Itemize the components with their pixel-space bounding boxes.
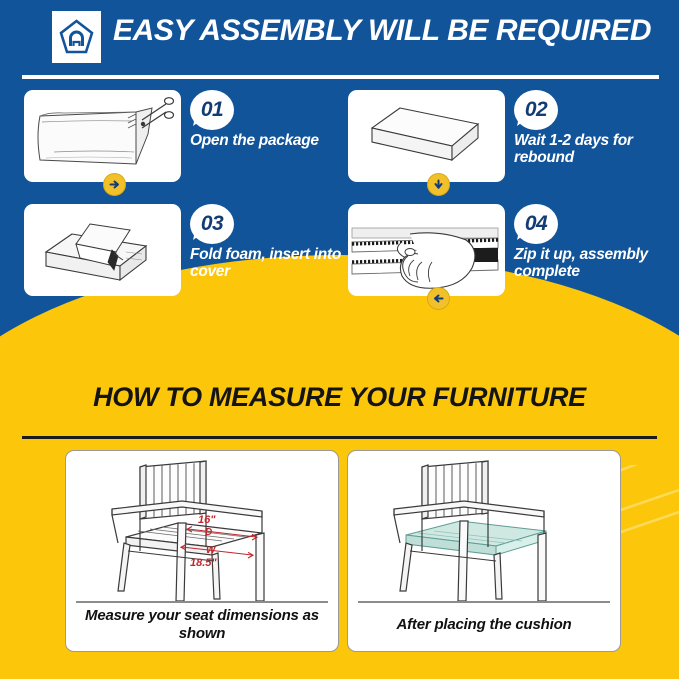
step-number: 02 — [525, 98, 547, 122]
dimension-depth-symbol: D — [205, 527, 212, 538]
dimension-depth-value: 16" — [198, 514, 216, 526]
step-arrow-down-icon — [427, 173, 450, 196]
step-item: 03 Fold foam, insert into cover — [14, 202, 344, 306]
measure-card-caption: Measure your seat dimensions as shown — [74, 607, 330, 642]
step-label: Open the package — [190, 132, 346, 149]
step-item: 01 Open the package — [14, 88, 344, 192]
measure-divider — [22, 436, 657, 439]
step-item: 04 Zip it up, assembly complete — [338, 202, 668, 306]
measure-card: After placing the cushion — [347, 450, 621, 652]
step-number-badge: 02 — [514, 90, 558, 130]
card-divider — [358, 601, 610, 603]
house-pentagon-logo-icon — [58, 18, 95, 57]
measure-card: 16" D W 18.5" Measure your seat dimensio… — [65, 450, 339, 652]
step-number-badge: 04 — [514, 204, 558, 244]
flat-foam-slab-icon — [348, 90, 505, 182]
step-number: 04 — [525, 212, 547, 236]
hand-zipping-cushion-cover-icon — [348, 204, 505, 296]
step-arrow-left-icon — [427, 287, 450, 310]
dimension-width-symbol: W — [206, 545, 217, 556]
step-label: Zip it up, assembly complete — [514, 246, 676, 280]
step-label: Wait 1-2 days for rebound — [514, 132, 676, 166]
vacuum-sealed-package-with-scissors-icon — [24, 90, 181, 182]
dimension-width-value: 18.5" — [190, 557, 217, 569]
measure-cards: 16" D W 18.5" Measure your seat dimensio… — [0, 450, 679, 665]
measure-title: HOW TO MEASURE YOUR FURNITURE — [0, 382, 679, 413]
header-divider — [22, 75, 659, 79]
infographic-page: EASY ASSEMBLY WILL BE REQUIRED — [0, 0, 679, 679]
chair-line-drawing-with-dimensions-icon: 16" D W 18.5" — [66, 451, 338, 601]
step-number-badge: 01 — [190, 90, 234, 130]
step-label: Fold foam, insert into cover — [190, 246, 346, 280]
step-arrow-right-icon — [103, 173, 126, 196]
step-illustration-card — [24, 90, 181, 182]
step-illustration-card — [348, 90, 505, 182]
step-number-badge: 03 — [190, 204, 234, 244]
step-illustration-card — [24, 204, 181, 296]
chair-with-seat-cushion-icon — [348, 451, 620, 601]
step-item: 02 Wait 1-2 days for rebound — [338, 88, 668, 192]
brand-logo — [52, 11, 101, 63]
card-divider — [76, 601, 328, 603]
step-number: 03 — [201, 212, 223, 236]
foam-folded-into-cover-icon — [24, 204, 181, 296]
step-number: 01 — [201, 98, 223, 122]
step-illustration-card — [348, 204, 505, 296]
measure-card-caption: After placing the cushion — [356, 616, 612, 634]
assembly-steps: 01 Open the package — [0, 88, 679, 318]
header: EASY ASSEMBLY WILL BE REQUIRED — [0, 0, 679, 78]
page-title: EASY ASSEMBLY WILL BE REQUIRED — [113, 14, 651, 48]
